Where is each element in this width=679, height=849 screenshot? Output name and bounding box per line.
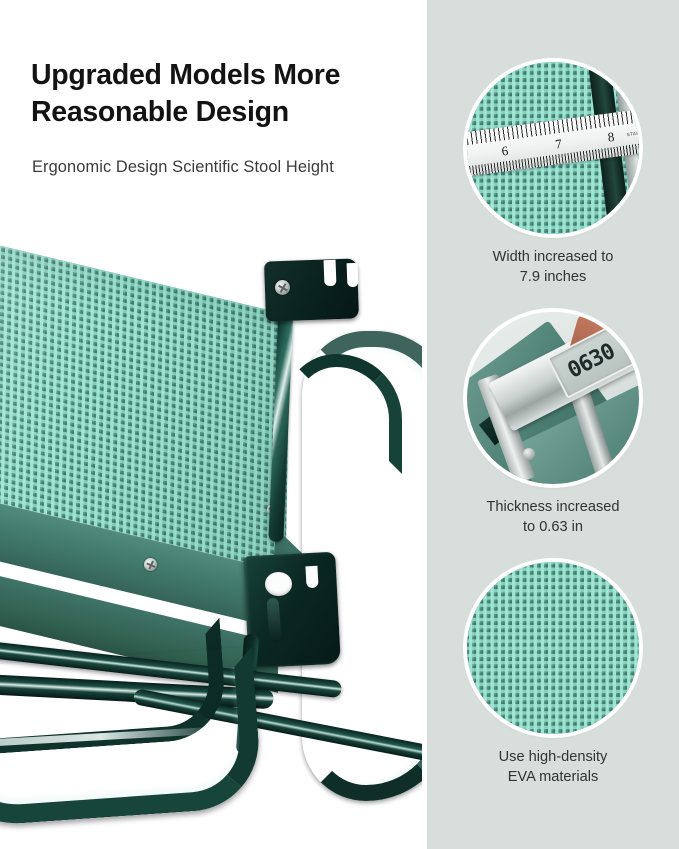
ruler-tick-label-8: 8 [607,129,616,146]
infographic-page: Upgraded Models More Reasonable Design E… [0,0,679,849]
feature-material-caption-line2: EVA materials [427,767,679,787]
left-panel: Upgraded Models More Reasonable Design E… [0,0,427,849]
fork-bracket-notch [324,260,337,286]
feature-thickness-inset: 0630 [467,312,639,484]
hinge-plate-hook-notch [305,566,318,589]
hinge-plate-hole [265,572,292,596]
feature-width-inset: 6 7 8 STAINLESS [467,62,639,234]
fork-bracket-screw-icon [275,280,290,295]
feature-material-inset [467,562,639,734]
feature-material-caption: Use high-density EVA materials [427,747,679,787]
ruler-tick-label-6: 6 [501,143,510,160]
caliper-reading-value: 0630 [563,339,618,384]
feature-width-caption: Width increased to 7.9 inches [427,247,679,287]
feature-thickness-caption-line1: Thickness increased [427,497,679,517]
footer-space [0,819,679,849]
fork-bracket-notch [347,263,359,287]
feature-thickness-caption-line2: to 0.63 in [427,517,679,537]
right-panel: 6 7 8 STAINLESS Width increased to 7.9 i… [427,0,679,849]
eva-texture-closeup [467,562,639,734]
page-subtitle: Ergonomic Design Scientific Stool Height [32,158,422,177]
ruler-brand-text: STAINLESS [626,129,639,138]
feature-width-caption-line2: 7.9 inches [427,267,679,287]
feature-width-caption-line1: Width increased to [427,247,679,267]
feature-thickness-caption: Thickness increased to 0.63 in [427,497,679,537]
product-photo [0,236,427,849]
page-title: Upgraded Models More Reasonable Design [31,57,411,131]
pad-screw-icon [144,558,157,571]
feature-material-caption-line1: Use high-density [427,747,679,767]
caliper-inset-screw-icon [523,448,535,460]
ruler-tick-label-7: 7 [554,136,563,153]
